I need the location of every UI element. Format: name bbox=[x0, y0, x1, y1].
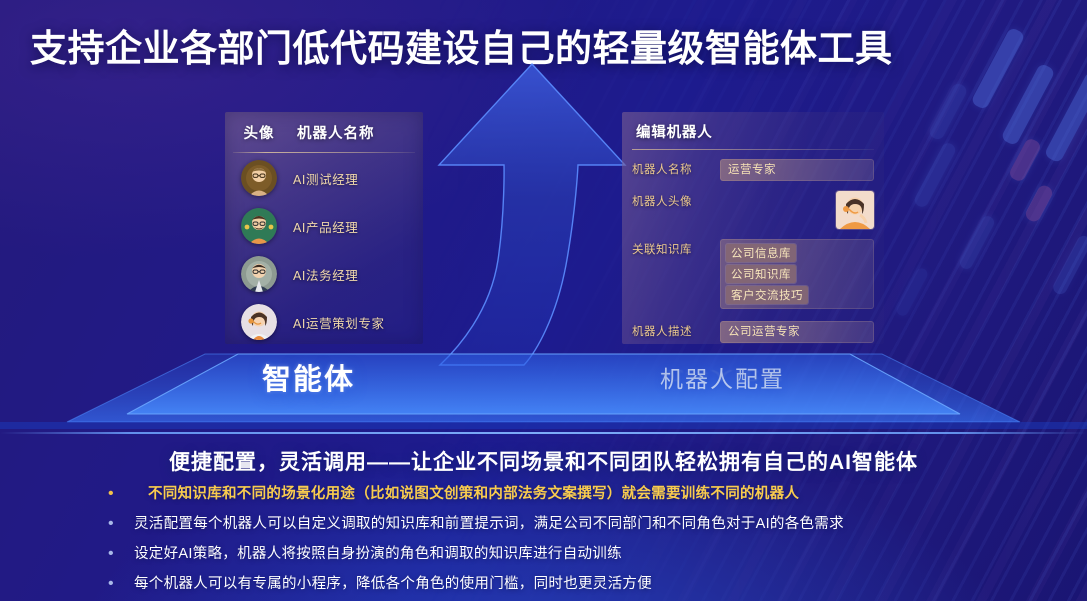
bullet-text: 每个机器人可以有专属的小程序，降低各个角色的使用门槛，同时也更灵活方便 bbox=[134, 575, 652, 593]
avatar-cell bbox=[225, 256, 293, 292]
avatar-cell bbox=[225, 208, 293, 244]
column-header-name-label: 机器人名称 bbox=[297, 126, 375, 142]
list-item: • 设定好AI策略，机器人将按照自身扮演的角色和调取的知识库进行自动训练 bbox=[108, 545, 1008, 563]
arrow-icon bbox=[432, 60, 632, 372]
column-header-avatar: 头像 bbox=[225, 122, 293, 143]
knowledge-base-tag[interactable]: 公司知识库 bbox=[726, 265, 796, 283]
table-row[interactable]: AI法务经理 bbox=[225, 251, 423, 297]
list-item: • 每个机器人可以有专属的小程序，降低各个角色的使用门槛，同时也更灵活方便 bbox=[108, 575, 1008, 593]
bullet-marker-icon: • bbox=[108, 515, 134, 533]
avatar-cell bbox=[225, 304, 293, 340]
field-knowledge-base-label: 关联知识库 bbox=[632, 239, 720, 261]
upward-arrow-graphic bbox=[432, 60, 632, 372]
header-divider bbox=[233, 152, 415, 153]
column-header-avatar-label: 头像 bbox=[244, 126, 275, 142]
robot-name: AI运营策划专家 bbox=[293, 313, 423, 332]
footer-headline: 便捷配置，灵活调用——让企业不同场景和不同团队轻松拥有自己的AI智能体 bbox=[0, 446, 1087, 476]
robot-description-input[interactable]: 公司运营专家 bbox=[720, 321, 874, 343]
robot-name: AI产品经理 bbox=[293, 217, 423, 236]
field-robot-avatar-label: 机器人头像 bbox=[632, 191, 720, 213]
list-item: • 不同知识库和不同的场景化用途（比如说图文创策和内部法务文案撰写）就会需要训练… bbox=[108, 485, 1008, 503]
edit-robot-title: 编辑机器人 bbox=[622, 112, 884, 142]
field-robot-description-label: 机器人描述 bbox=[632, 321, 720, 343]
field-robot-name-label: 机器人名称 bbox=[632, 159, 720, 181]
field-robot-avatar: 机器人头像 bbox=[622, 191, 884, 229]
avatar-ai-legal-manager bbox=[241, 256, 277, 292]
edit-robot-panel: 编辑机器人 机器人名称 运营专家 机器人头像 关联知识库 公司信息库 公司知识库 bbox=[622, 112, 884, 344]
bullet-marker-icon: • bbox=[108, 545, 134, 563]
field-robot-avatar-control bbox=[720, 191, 874, 229]
field-robot-name-control: 运营专家 bbox=[720, 159, 874, 181]
avatar-ai-test-manager bbox=[241, 160, 277, 196]
field-knowledge-base-control: 公司信息库 公司知识库 客户交流技巧 bbox=[720, 239, 874, 309]
table-row[interactable]: AI测试经理 bbox=[225, 155, 423, 201]
edit-panel-divider bbox=[632, 149, 874, 150]
bullet-marker-icon: • bbox=[108, 575, 134, 593]
platform-graphic bbox=[0, 352, 1087, 434]
robot-name: AI测试经理 bbox=[293, 169, 423, 188]
column-header-name: 机器人名称 bbox=[293, 122, 423, 143]
avatar-ai-product-manager bbox=[241, 208, 277, 244]
robot-name: AI法务经理 bbox=[293, 265, 423, 284]
robot-name-input[interactable]: 运营专家 bbox=[720, 159, 874, 181]
platform-baseline bbox=[0, 432, 1087, 434]
list-item: • 灵活配置每个机器人可以自定义调取的知识库和前置提示词，满足公司不同部门和不同… bbox=[108, 515, 1008, 533]
table-row[interactable]: AI运营策划专家 bbox=[225, 299, 423, 345]
field-robot-name: 机器人名称 运营专家 bbox=[622, 159, 884, 181]
platform-label-agent: 智能体 bbox=[262, 356, 355, 398]
bullet-text: 灵活配置每个机器人可以自定义调取的知识库和前置提示词，满足公司不同部门和不同角色… bbox=[134, 515, 844, 533]
knowledge-base-tag[interactable]: 公司信息库 bbox=[726, 244, 796, 262]
avatar-cell bbox=[225, 160, 293, 196]
slide-canvas: 支持企业各部门低代码建设自己的轻量级智能体工具 头像 机器人名称 bbox=[0, 0, 1087, 601]
platform-trapezoid-icon bbox=[0, 352, 1087, 434]
bullet-text: 设定好AI策略，机器人将按照自身扮演的角色和调取的知识库进行自动训练 bbox=[134, 545, 622, 563]
avatar-ai-operations-expert bbox=[241, 304, 277, 340]
platform-label-config-reflection: 机器人配置 bbox=[660, 367, 785, 386]
bullet-marker-icon: • bbox=[108, 485, 134, 503]
knowledge-base-tag[interactable]: 客户交流技巧 bbox=[726, 286, 808, 304]
field-robot-description-control: 公司运营专家 bbox=[720, 321, 874, 343]
field-robot-description: 机器人描述 公司运营专家 bbox=[622, 321, 884, 343]
robot-avatar-preview[interactable] bbox=[836, 191, 874, 229]
robot-list-panel: 头像 机器人名称 AI测试经理 AI产品经理 bbox=[225, 112, 423, 344]
robot-list-header: 头像 机器人名称 bbox=[225, 112, 423, 148]
footer-bullet-list: • 不同知识库和不同的场景化用途（比如说图文创策和内部法务文案撰写）就会需要训练… bbox=[108, 485, 1008, 601]
knowledge-base-tag-list[interactable]: 公司信息库 公司知识库 客户交流技巧 bbox=[720, 239, 874, 309]
table-row[interactable]: AI产品经理 bbox=[225, 203, 423, 249]
bullet-text: 不同知识库和不同的场景化用途（比如说图文创策和内部法务文案撰写）就会需要训练不同… bbox=[134, 485, 799, 503]
field-knowledge-base: 关联知识库 公司信息库 公司知识库 客户交流技巧 bbox=[622, 239, 884, 309]
